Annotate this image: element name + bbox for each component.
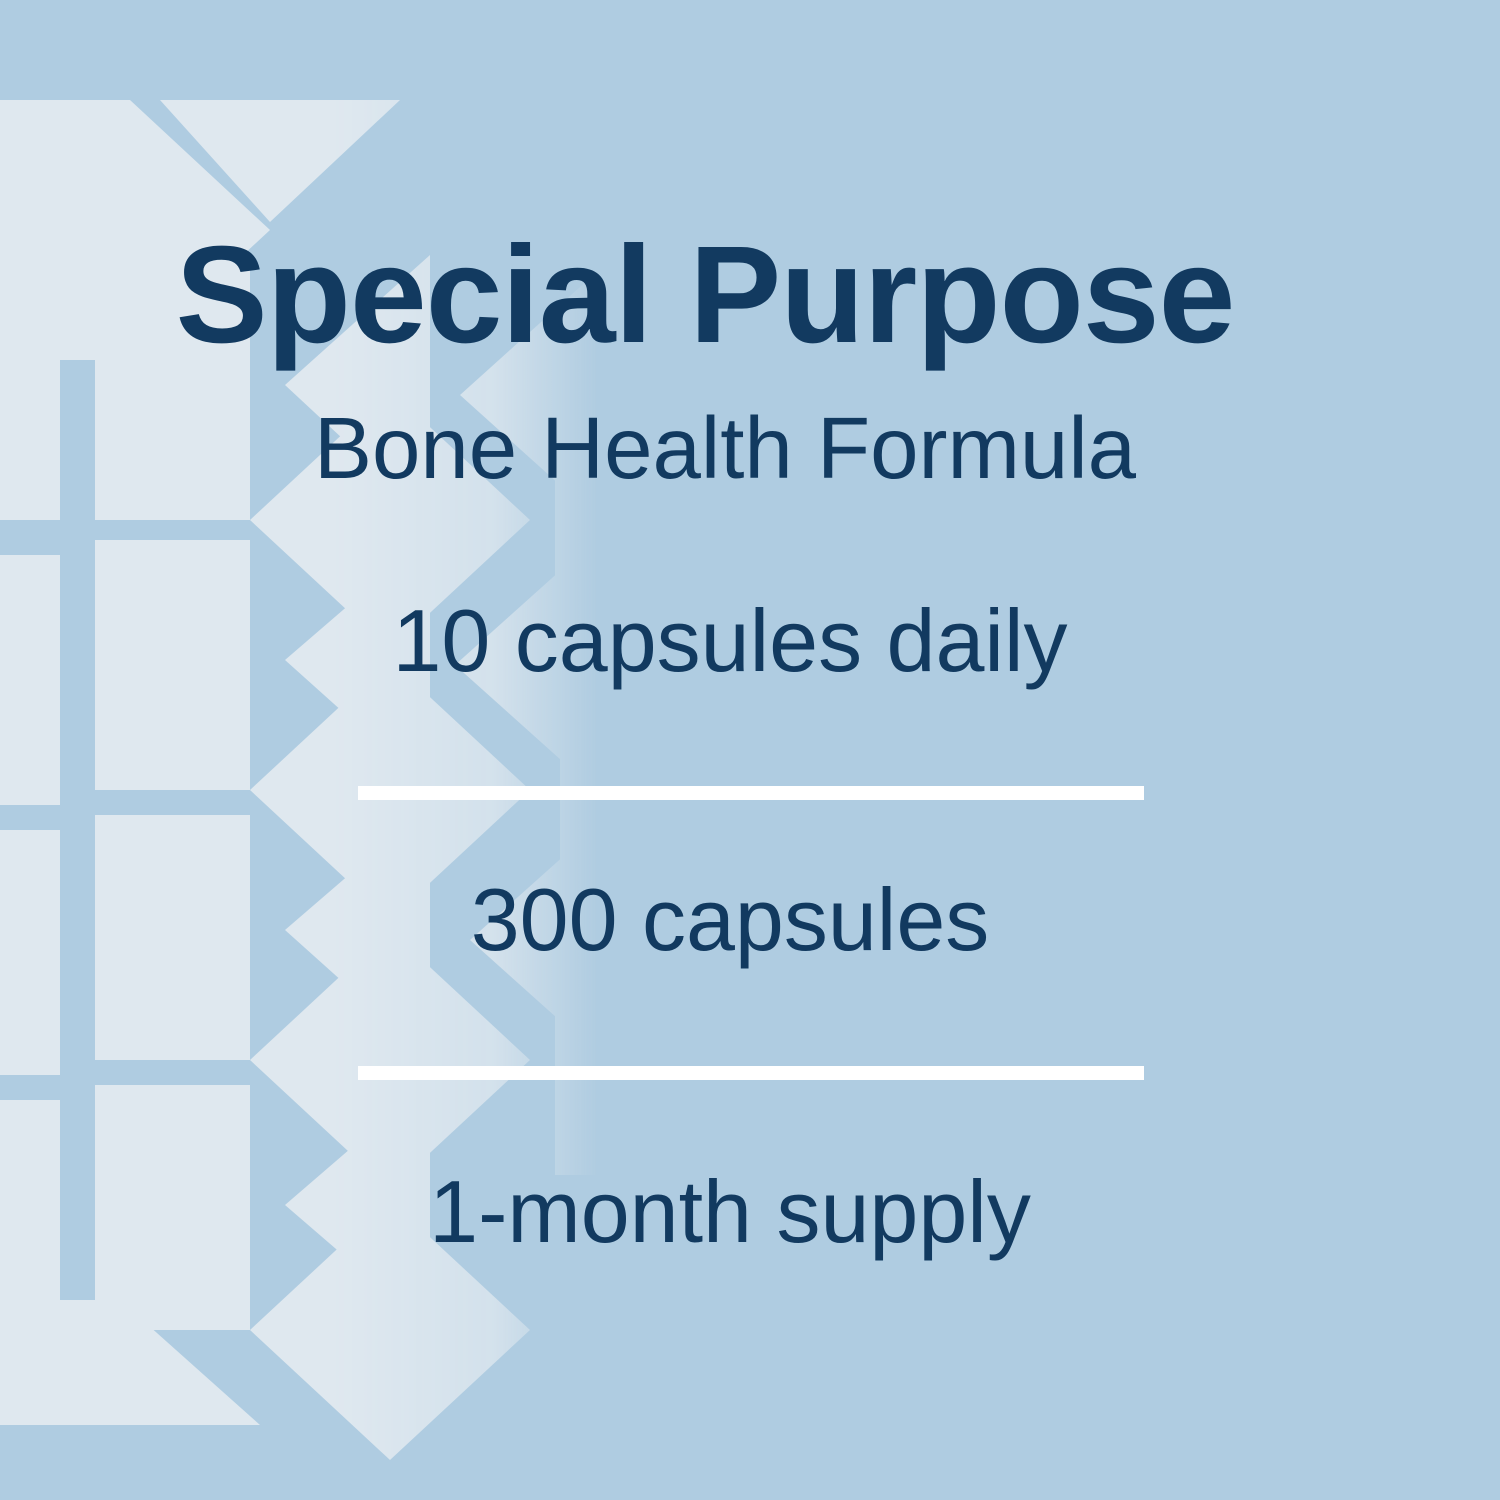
spec-dosage: 10 capsules daily	[0, 597, 1500, 685]
spec-supply: 1-month supply	[0, 1168, 1500, 1256]
divider-bottom	[358, 1066, 1144, 1080]
spec-count: 300 capsules	[0, 876, 1500, 964]
page-title: Special Purpose	[0, 226, 1500, 364]
card-content: Special Purpose Bone Health Formula 10 c…	[0, 0, 1500, 1500]
product-info-card: Special Purpose Bone Health Formula 10 c…	[0, 0, 1500, 1500]
page-subtitle: Bone Health Formula	[0, 405, 1500, 492]
divider-top	[358, 786, 1144, 800]
